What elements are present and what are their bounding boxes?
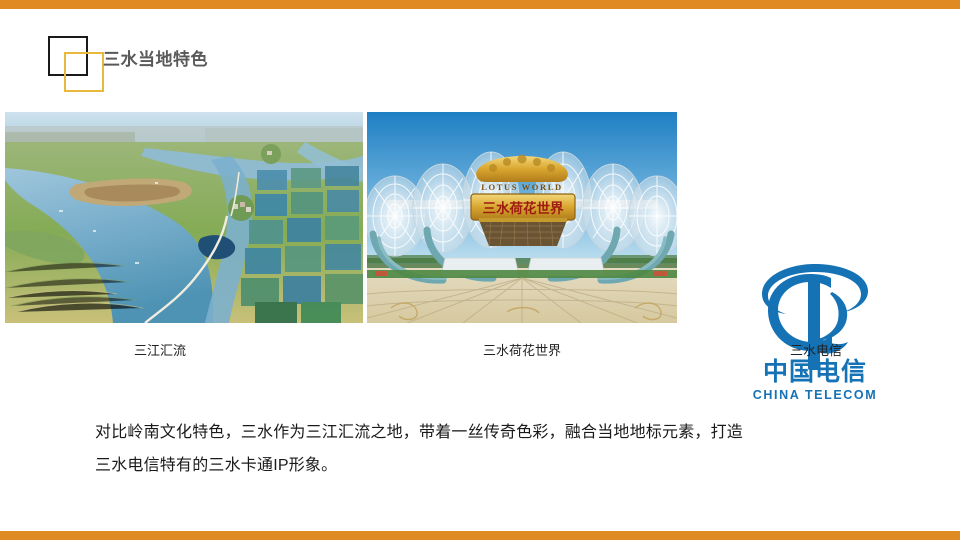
body-paragraph: 对比岭南文化特色，三水作为三江汇流之地，带着一丝传奇色彩，融合当地地标元素，打造… bbox=[95, 416, 885, 482]
body-line-1: 对比岭南文化特色，三水作为三江汇流之地，带着一丝传奇色彩，融合当地地标元素，打造 bbox=[95, 416, 885, 449]
svg-text:三水荷花世界: 三水荷花世界 bbox=[483, 200, 564, 217]
bottom-accent-bar bbox=[0, 531, 960, 540]
page-title: 三水当地特色 bbox=[103, 45, 208, 70]
caption-aerial-river: 三江汇流 bbox=[60, 342, 260, 360]
overlapping-squares-logo-icon bbox=[48, 36, 108, 96]
lotus-world-image: LOTUS WORLD 三水荷花世界 bbox=[367, 112, 677, 323]
media-row: LOTUS WORLD 三水荷花世界 bbox=[0, 112, 960, 323]
aerial-river-image bbox=[5, 112, 363, 323]
svg-text:CHINA TELECOM: CHINA TELECOM bbox=[753, 388, 878, 402]
slide-header: 三水当地特色 bbox=[0, 9, 960, 104]
top-accent-bar bbox=[0, 0, 960, 9]
lotus-world-gate-photo: LOTUS WORLD 三水荷花世界 bbox=[367, 112, 677, 323]
caption-lotus-world: 三水荷花世界 bbox=[420, 342, 624, 360]
slide-canvas: 三水当地特色 bbox=[0, 0, 960, 540]
aerial-river-confluence-photo bbox=[5, 112, 363, 323]
caption-china-telecom: 三水电信 bbox=[728, 342, 904, 360]
svg-text:中国电信: 中国电信 bbox=[763, 357, 867, 386]
body-line-2: 三水电信特有的三水卡通IP形象。 bbox=[95, 449, 885, 482]
gold-square-icon bbox=[64, 52, 104, 92]
china-telecom-logo: 中国电信 CHINA TELECOM bbox=[748, 252, 883, 412]
china-telecom-mark-icon: 中国电信 CHINA TELECOM bbox=[748, 252, 883, 412]
svg-text:LOTUS WORLD: LOTUS WORLD bbox=[481, 182, 562, 192]
